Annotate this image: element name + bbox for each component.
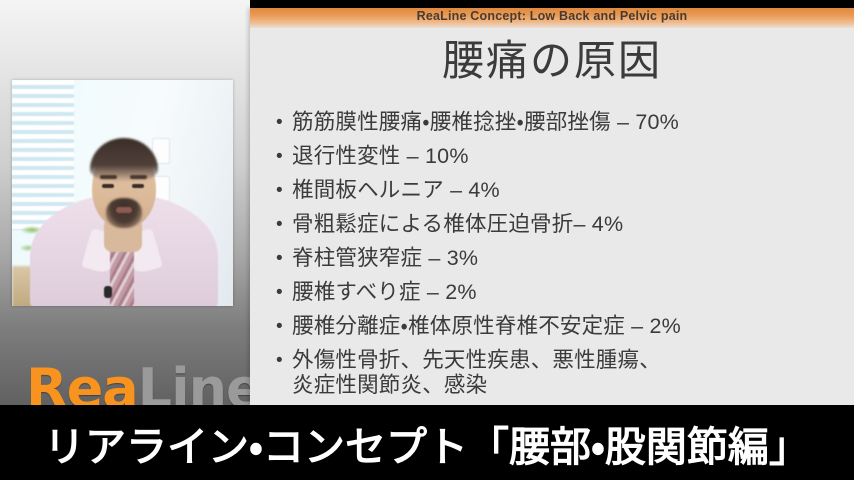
slide-bullet-list: • 筋筋膜性腰痛・腰椎捻挫・腰部挫傷 – 70% • 退行性変性 – 10% •… [276,110,844,405]
bullet-marker-icon: • [276,280,292,305]
presenter-eye-left [102,184,114,188]
list-item-text: 椎間板ヘルニア – 4% [292,178,500,203]
list-item: • 外傷性骨折、先天性疾患、悪性腫瘍、 炎症性関節炎、感染 [276,348,844,398]
list-item-text: 脊柱管狭窄症 – 3% [292,246,478,271]
list-item: • 退行性変性 – 10% [276,144,844,169]
list-item-text: 筋筋膜性腰痛・腰椎捻挫・腰部挫傷 – 70% [292,110,679,135]
presenter-eye-right [132,184,144,188]
bullet-marker-icon: • [276,314,292,339]
list-item: • 腰椎分離症・椎体原性脊椎不安定症 – 2% [276,314,844,339]
presenter-mouth [116,207,132,213]
list-item-text: 外傷性骨折、先天性疾患、悪性腫瘍、 炎症性関節炎、感染 [292,348,661,398]
list-item: • 筋筋膜性腰痛・腰椎捻挫・腰部挫傷 – 70% [276,110,844,135]
video-player-frame: ReaLine® ReaLine Concept: Low Back and P… [0,0,854,480]
bullet-marker-icon: • [276,178,292,203]
caption-title: リアライン・コンセプト「腰部・股関節編」 [44,413,810,473]
bullet-marker-icon: • [276,348,292,373]
presentation-slide: ReaLine Concept: Low Back and Pelvic pai… [250,8,854,405]
bullet-marker-icon: • [276,212,292,237]
list-item-text: 骨粗鬆症による椎体圧迫骨折– 4% [292,212,623,237]
list-item: • 脊柱管狭窄症 – 3% [276,246,844,271]
slide-header-text: ReaLine Concept: Low Back and Pelvic pai… [250,8,854,24]
list-item: • 骨粗鬆症による椎体圧迫骨折– 4% [276,212,844,237]
bullet-marker-icon: • [276,246,292,271]
slide-title: 腰痛の原因 [250,38,854,84]
list-item: • 椎間板ヘルニア – 4% [276,178,844,203]
presenter-beard [106,198,142,228]
presenter-necktie [110,248,134,306]
list-item: • 腰椎すべり症 – 2% [276,280,844,305]
lapel-microphone [104,286,112,298]
list-item-text: 腰椎すべり症 – 2% [292,280,477,305]
bullet-marker-icon: • [276,110,292,135]
presenter-eyebrow-left [100,175,117,179]
list-item-text: 腰椎分離症・椎体原性脊椎不安定症 – 2% [292,314,681,339]
presenter-eyebrow-right [130,175,147,179]
caption-bar: リアライン・コンセプト「腰部・股関節編」 [0,405,854,480]
presenter-video-inset [12,80,233,306]
bullet-marker-icon: • [276,144,292,169]
list-item-text: 退行性変性 – 10% [292,144,469,169]
